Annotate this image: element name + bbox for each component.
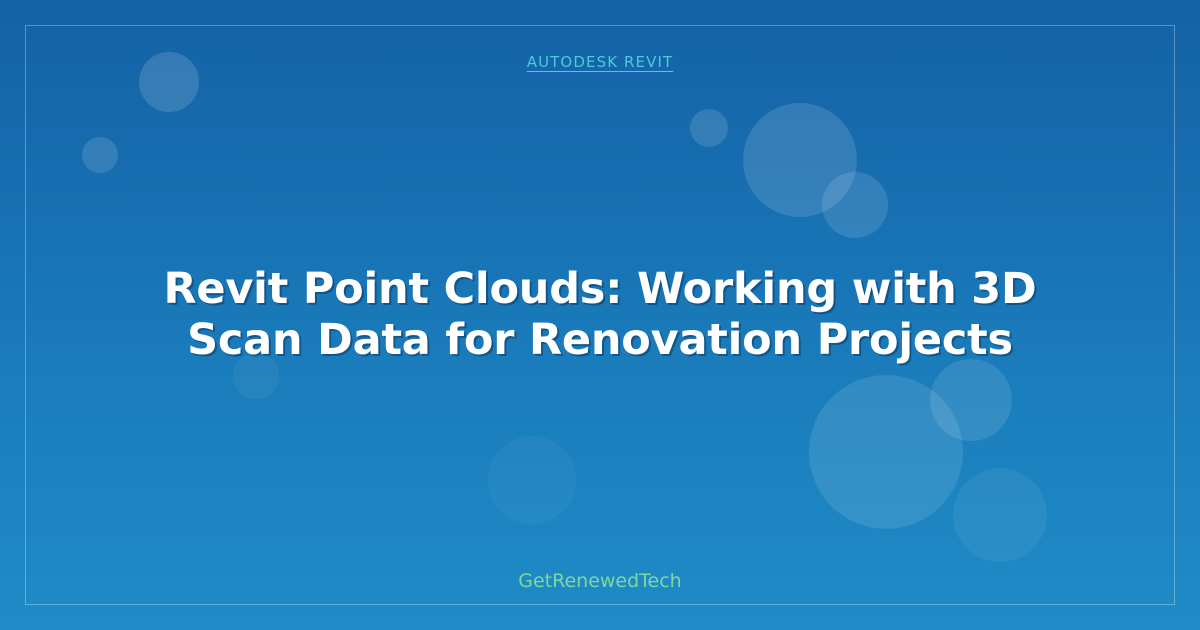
cover-canvas: AUTODESK REVIT Revit Point Clouds: Worki… [0,0,1200,630]
page-title: Revit Point Clouds: Working with 3D Scan… [80,264,1120,365]
content-stack: Revit Point Clouds: Working with 3D Scan… [0,0,1200,630]
site-brand-footer: GetRenewedTech [0,570,1200,592]
